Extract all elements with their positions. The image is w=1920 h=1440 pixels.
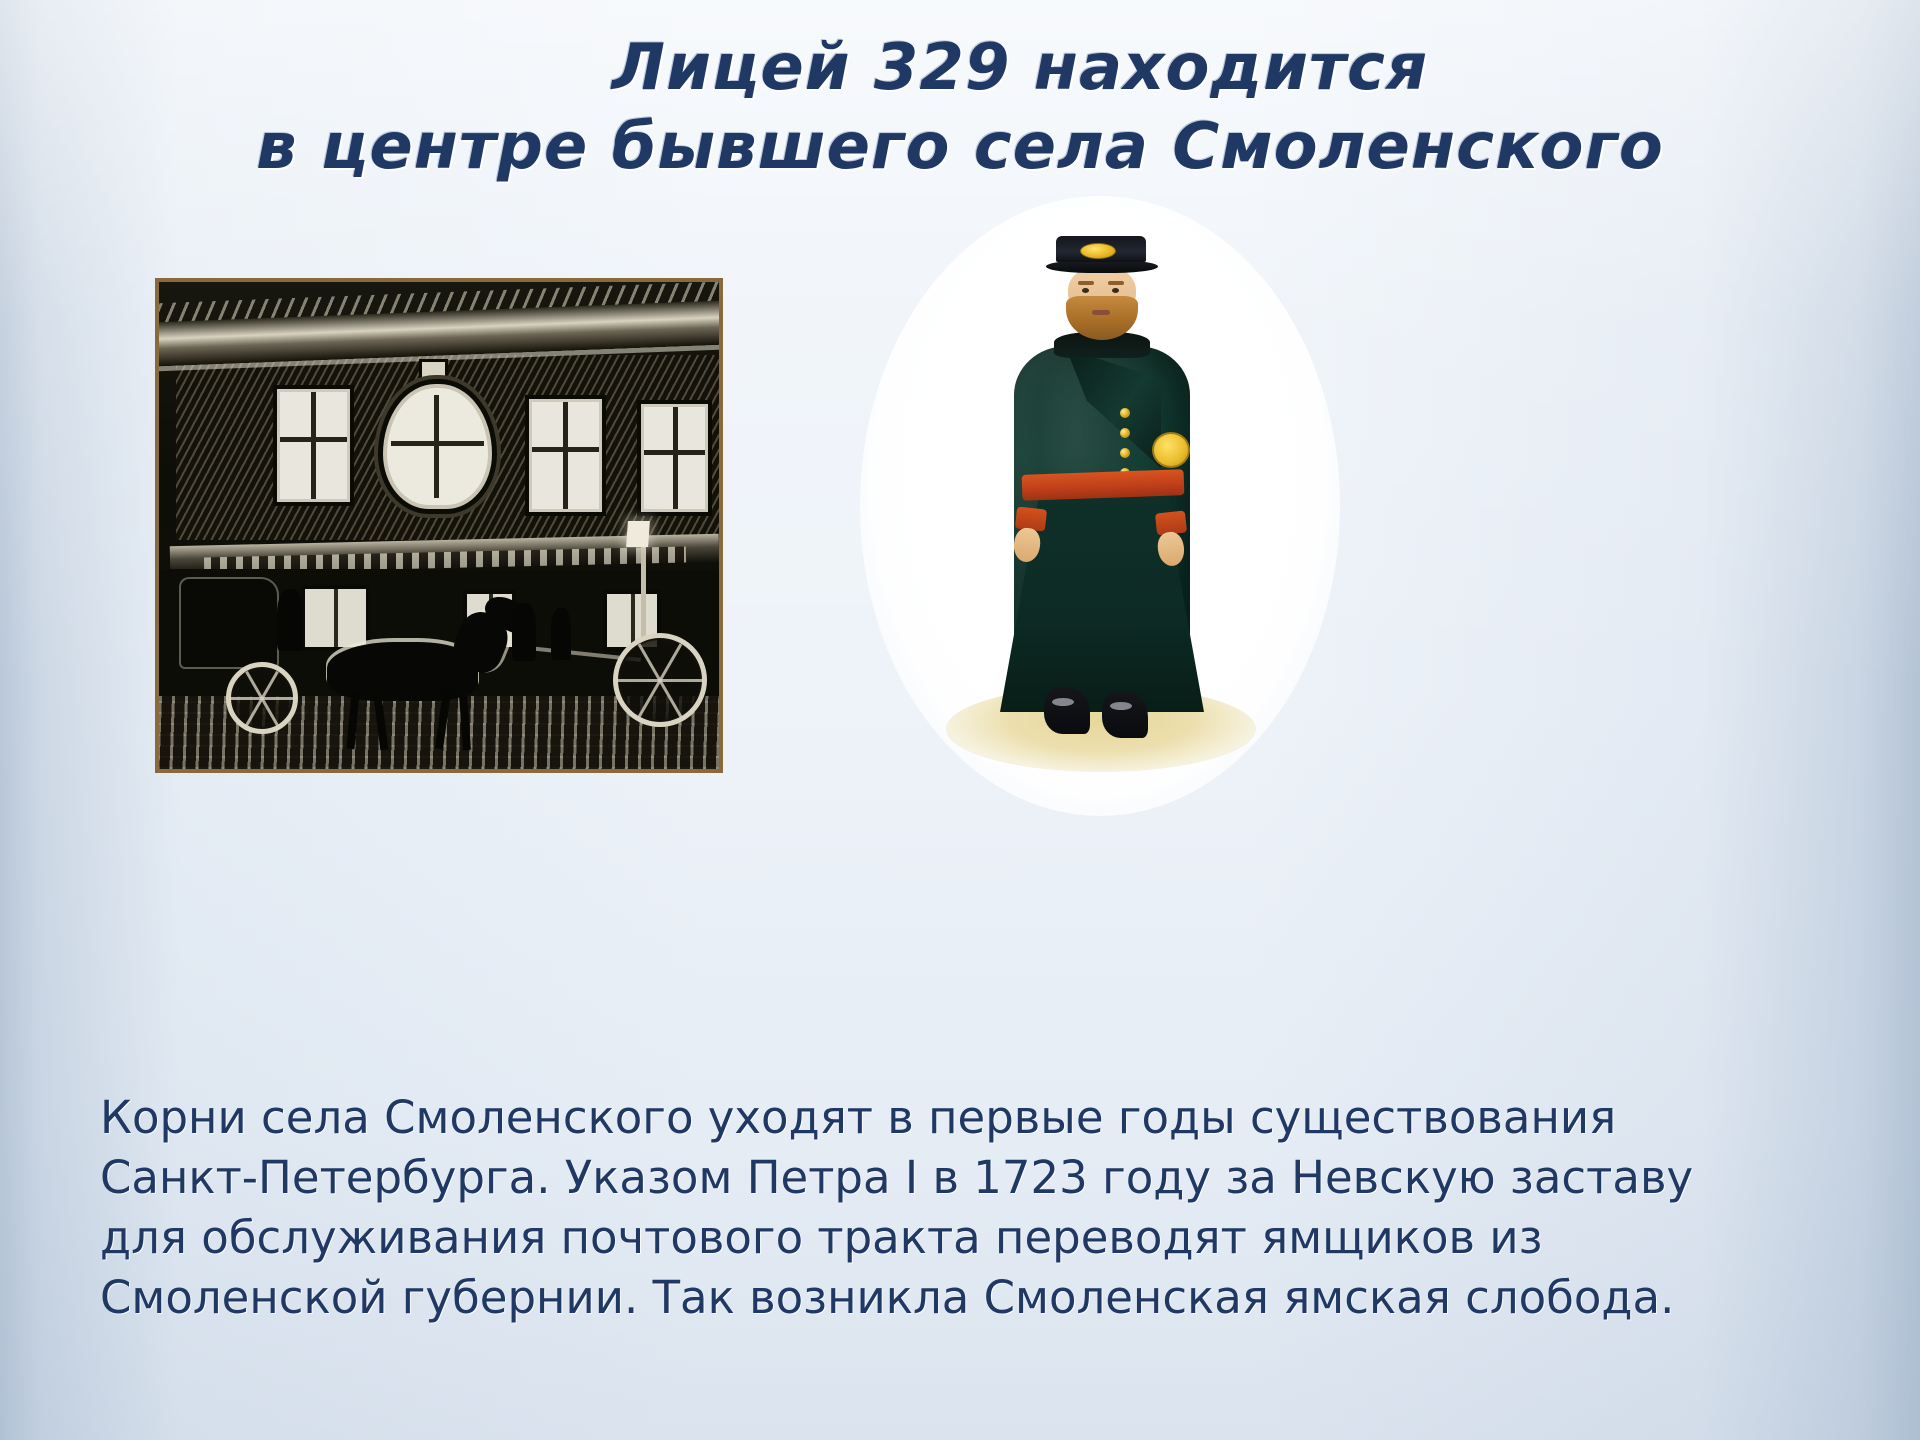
body-paragraph: Корни села Смоленского уходят в первые г… — [100, 1088, 1840, 1327]
street-lamp-post — [641, 535, 646, 642]
upper-window-left — [277, 389, 350, 502]
coat-button — [1120, 448, 1130, 458]
eye-left — [1082, 288, 1089, 293]
hat-badge-icon — [1080, 243, 1116, 259]
eyebrow-right — [1108, 281, 1124, 285]
body-line-2: Санкт-Петербурга. Указом Петра I в 1723 … — [100, 1148, 1840, 1208]
title-line-1: Лицей 329 находится — [0, 34, 1920, 103]
oval-window-crest — [422, 362, 444, 386]
yellow-badge-patch — [1152, 432, 1190, 468]
slide-title: Лицей 329 находится в центре бывшего сел… — [0, 34, 1920, 182]
eye-right — [1112, 288, 1119, 293]
title-line-2: в центре бывшего села Смоленского — [0, 113, 1920, 182]
street-lamp-icon — [626, 521, 650, 547]
coachman-figure — [970, 236, 1230, 776]
carriage-wheel-front — [226, 662, 298, 734]
engraving-photo — [155, 278, 723, 773]
standing-person — [277, 589, 303, 651]
boot-right — [1102, 692, 1148, 738]
carriage-wheel-rear — [613, 633, 707, 727]
standing-person — [512, 603, 536, 661]
boot-highlight — [1052, 698, 1074, 706]
body-line-4: Смоленской губернии. Так возникла Смолен… — [100, 1268, 1840, 1328]
upper-window-far-right — [641, 404, 709, 512]
lower-window-left — [305, 589, 367, 647]
standing-person — [551, 608, 571, 660]
boot-left — [1044, 688, 1090, 734]
mouth — [1092, 310, 1110, 315]
boot-highlight — [1110, 702, 1132, 710]
eyebrow-left — [1078, 281, 1094, 285]
presentation-slide: Лицей 329 находится в центре бывшего сел… — [0, 0, 1920, 1440]
coat-button — [1120, 428, 1130, 438]
coachman-illustration — [860, 196, 1340, 816]
oval-window — [383, 384, 492, 509]
upper-window-right — [529, 399, 602, 512]
coat-button — [1120, 408, 1130, 418]
body-line-3: для обслуживания почтового тракта перево… — [100, 1208, 1840, 1268]
body-line-1: Корни села Смоленского уходят в первые г… — [100, 1088, 1840, 1148]
carriage-body — [181, 579, 276, 667]
